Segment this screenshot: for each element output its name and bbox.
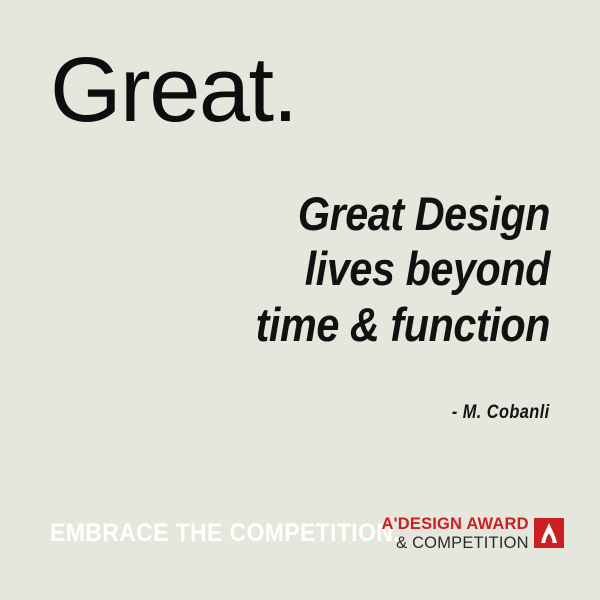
footer-tagline: EMBRACE THE COMPETITION. <box>50 519 400 548</box>
quote-block: Great Design lives beyond time & functio… <box>180 186 550 352</box>
logo-line-award: A'DESIGN AWARD <box>382 515 529 532</box>
a-design-award-logo: A'DESIGN AWARD & COMPETITION <box>377 515 564 551</box>
logo-line-competition: & COMPETITION <box>396 534 529 551</box>
a-flame-emblem-icon <box>534 518 564 548</box>
quote-line-2: lives beyond <box>180 241 550 296</box>
quote-attribution: - M. Cobanli <box>452 402 550 424</box>
poster-canvas: Great. Great Design lives beyond time & … <box>0 0 600 600</box>
logo-wordmark: A'DESIGN AWARD & COMPETITION <box>377 515 529 551</box>
page-title: Great. <box>50 44 297 136</box>
quote-line-1: Great Design <box>180 186 550 241</box>
quote-line-3: time & function <box>180 297 550 352</box>
